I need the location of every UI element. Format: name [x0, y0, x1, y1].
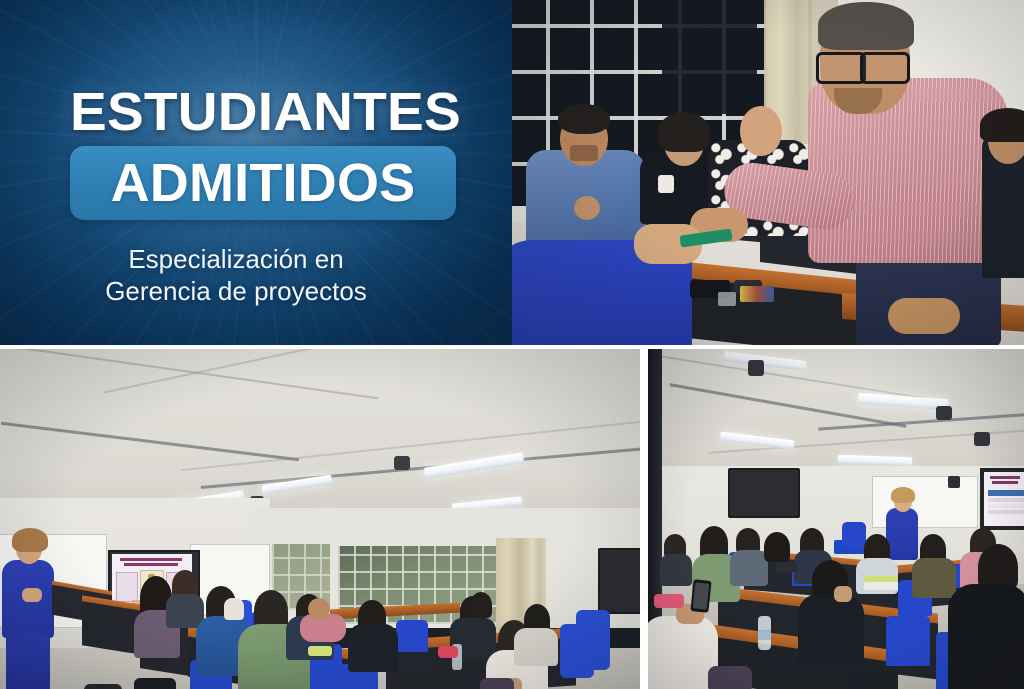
photo-bottom-left	[0, 348, 640, 689]
photo-top-right	[512, 0, 1024, 345]
photo-vignette	[512, 0, 1024, 345]
subtitle-line-1: Especialización en	[128, 244, 343, 274]
photo-bottom-right	[648, 348, 1024, 689]
divider-vertical	[640, 345, 648, 689]
subtitle-line-2: Gerencia de proyectos	[0, 275, 472, 307]
title-content: ESTUDIANTES ADMITIDOS Especialización en…	[0, 0, 512, 345]
status-badge: ADMITIDOS	[70, 146, 456, 220]
photo-vignette	[0, 348, 640, 689]
status-badge-label: ADMITIDOS	[70, 156, 456, 210]
divider-horizontal	[0, 345, 1024, 349]
page-title: ESTUDIANTES	[70, 84, 468, 140]
title-panel: ESTUDIANTES ADMITIDOS Especialización en…	[0, 0, 512, 345]
program-subtitle: Especialización en Gerencia de proyectos	[0, 243, 512, 307]
poster-canvas: ESTUDIANTES ADMITIDOS Especialización en…	[0, 0, 1024, 689]
photo-vignette	[648, 348, 1024, 689]
